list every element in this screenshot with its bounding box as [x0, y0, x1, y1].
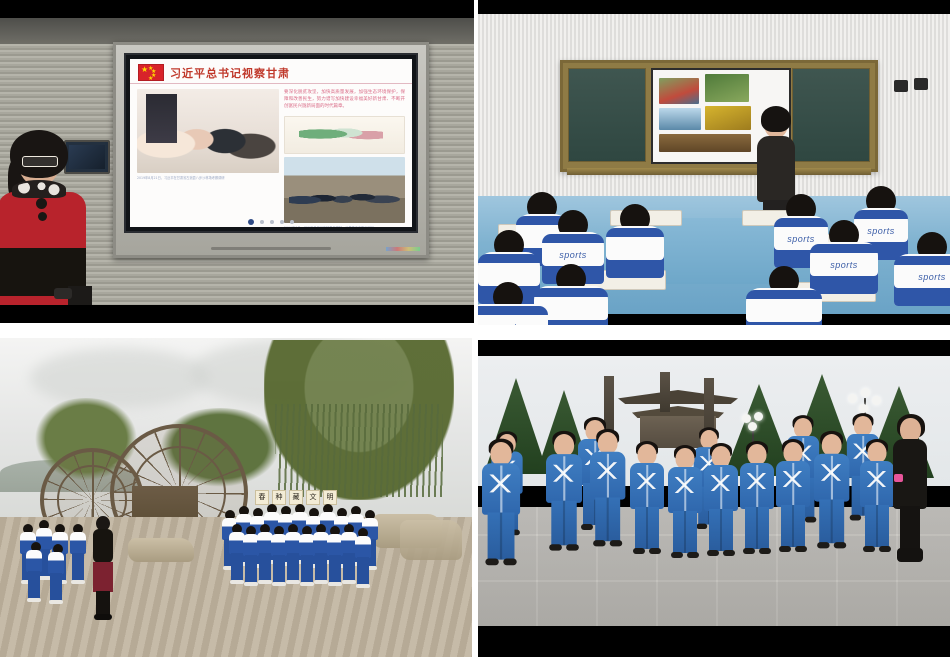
- teacher-figure: [892, 418, 928, 568]
- screen-photo: [659, 78, 699, 104]
- student-uniform-collar: [478, 306, 548, 315]
- landscape-scroll-photo: [284, 116, 405, 154]
- teacher-figure: [0, 136, 92, 323]
- uniform-logo-text: sports: [830, 260, 858, 270]
- student-uniform-collar: [606, 228, 664, 237]
- photo-panel-bottom-left[interactable]: 春 种 藏 文 明: [0, 338, 472, 657]
- teacher-black-top: [757, 136, 795, 202]
- field-inspection-photo: [284, 157, 405, 223]
- slide-body: 2019年8月21日，习近平在甘肃省古浪县八步沙林场考察调研 要深化脱贫攻坚，加…: [130, 84, 412, 227]
- calligraphy-sign: 文: [306, 490, 320, 505]
- presentation-slide: ★★ ★★ ★ 习近平总书记视察甘肃 2019年8月21日，习近平在甘肃省古浪县…: [130, 59, 412, 227]
- whiteboard-screen[interactable]: ★★ ★★ ★ 习近平总书记视察甘肃 2019年8月21日，习近平在甘肃省古浪县…: [124, 53, 418, 233]
- letterbox-bottom: [0, 305, 474, 323]
- slide-title: 习近平总书记视察甘肃: [170, 65, 290, 81]
- speaker-icon: [914, 78, 928, 90]
- china-flag-icon: ★★ ★★ ★: [138, 64, 164, 81]
- teacher-shoes: [94, 614, 112, 620]
- teacher-hair: [10, 130, 68, 178]
- cloud: [30, 348, 210, 408]
- letterbox-bottom: [478, 645, 950, 657]
- speaker-icon: [894, 80, 908, 92]
- screen-photo: [705, 74, 749, 102]
- uniform-logo-text: sports: [867, 226, 895, 236]
- calligraphy-sign: 种: [272, 490, 286, 505]
- student-uniform-collar: [746, 290, 822, 299]
- rock: [128, 538, 194, 562]
- teacher-button: [38, 212, 47, 221]
- teacher-figure: [92, 516, 114, 620]
- teacher-glasses-icon: [22, 156, 58, 167]
- student-uniform-collar: [894, 256, 950, 265]
- blackboard-right-wing: [792, 68, 870, 162]
- archway-roof: [618, 390, 738, 404]
- uniform-logo-text: sports: [918, 272, 946, 282]
- screen-photo: [659, 108, 701, 130]
- stone-pillar: [660, 372, 670, 412]
- slide-body-text: 要深化脱贫攻坚，加快高质量发展，加强生态环境保护，保障和改善民生，努力谱写加快建…: [284, 89, 405, 113]
- page-dot[interactable]: [260, 220, 264, 224]
- student-uniform-collar: [534, 288, 608, 297]
- interactive-whiteboard[interactable]: ★★ ★★ ★ 习近平总书记视察甘肃 2019年8月21日，习近平在甘肃省古浪县…: [113, 42, 429, 258]
- photo-collage: ★★ ★★ ★ 习近平总书记视察甘肃 2019年8月21日，习近平在甘肃省古浪县…: [0, 0, 950, 657]
- page-dot[interactable]: [270, 220, 274, 224]
- classroom-scene: sports sports: [478, 14, 950, 314]
- letterbox-top: [478, 340, 950, 356]
- student-uniform-collar: [478, 254, 540, 263]
- student-uniform-collar: [854, 210, 908, 219]
- calligraphy-sign: 明: [323, 490, 337, 505]
- slide-header: ★★ ★★ ★ 习近平总书记视察甘肃: [130, 59, 412, 84]
- photo-panel-bottom-right[interactable]: [478, 340, 950, 657]
- willow-tree: [264, 340, 454, 500]
- screen-photo: [705, 106, 751, 130]
- student-uniform-collar: [810, 244, 878, 253]
- chalk-tray: [567, 168, 871, 175]
- uniform-logo-text: sports: [494, 322, 522, 325]
- uniform-logo-text: sports: [559, 250, 587, 260]
- temple-archway: [618, 362, 738, 448]
- family-meeting-photo: [137, 89, 279, 173]
- slide-page-dots[interactable]: [130, 219, 412, 225]
- page-dot-active[interactable]: [248, 219, 254, 225]
- photo-panel-top-right[interactable]: sports sports: [478, 0, 950, 325]
- letterbox-top: [478, 0, 950, 14]
- page-dot[interactable]: [280, 220, 284, 224]
- wall-upper-band: [0, 18, 474, 44]
- teacher-legs: [96, 591, 110, 615]
- blackboard: [560, 60, 878, 172]
- teacher-red-skirt: [93, 562, 113, 592]
- teacher-button: [36, 198, 47, 209]
- presenter-remote: [54, 288, 72, 299]
- photo-panel-top-left[interactable]: ★★ ★★ ★ 习近平总书记视察甘肃 2019年8月21日，习近平在甘肃省古浪县…: [0, 0, 474, 323]
- uniform-logo-text: sports: [787, 234, 815, 244]
- outdoor-plaza-scene: [478, 356, 950, 626]
- teacher-polkadot-collar: [12, 180, 66, 198]
- slide-caption-right: 2019年8月，习近平总书记在甘肃考察时，代表党中央职工慰问: [284, 226, 405, 227]
- blackboard-left-wing: [568, 68, 646, 162]
- page-dot[interactable]: [290, 220, 294, 224]
- calligraphy-sign: 藏: [289, 490, 303, 505]
- calligraphy-sign: 春: [255, 490, 269, 505]
- calligraphy-sign-row: 春 种 藏 文 明: [255, 490, 337, 505]
- letterbox-top: [0, 0, 474, 18]
- teacher-legs: [900, 506, 920, 550]
- student-uniform-collar: [774, 218, 828, 227]
- whiteboard-indicator-lights: [386, 247, 420, 251]
- student-uniform-collar: [542, 234, 604, 243]
- teacher-black-top: [93, 529, 113, 563]
- screen-photo: [659, 134, 751, 152]
- classroom-wall: ★★ ★★ ★ 习近平总书记视察甘肃 2019年8月21日，习近平在甘肃省古浪县…: [0, 18, 474, 305]
- teacher-pink-item: [894, 474, 903, 482]
- whiteboard-brand-strip: [211, 247, 331, 250]
- slide-caption-left: 2019年8月21日，习近平在甘肃省古浪县八步沙林场考察调研: [137, 176, 279, 180]
- teacher-boots: [897, 548, 923, 562]
- rock: [400, 520, 462, 560]
- teacher-hair: [761, 106, 791, 132]
